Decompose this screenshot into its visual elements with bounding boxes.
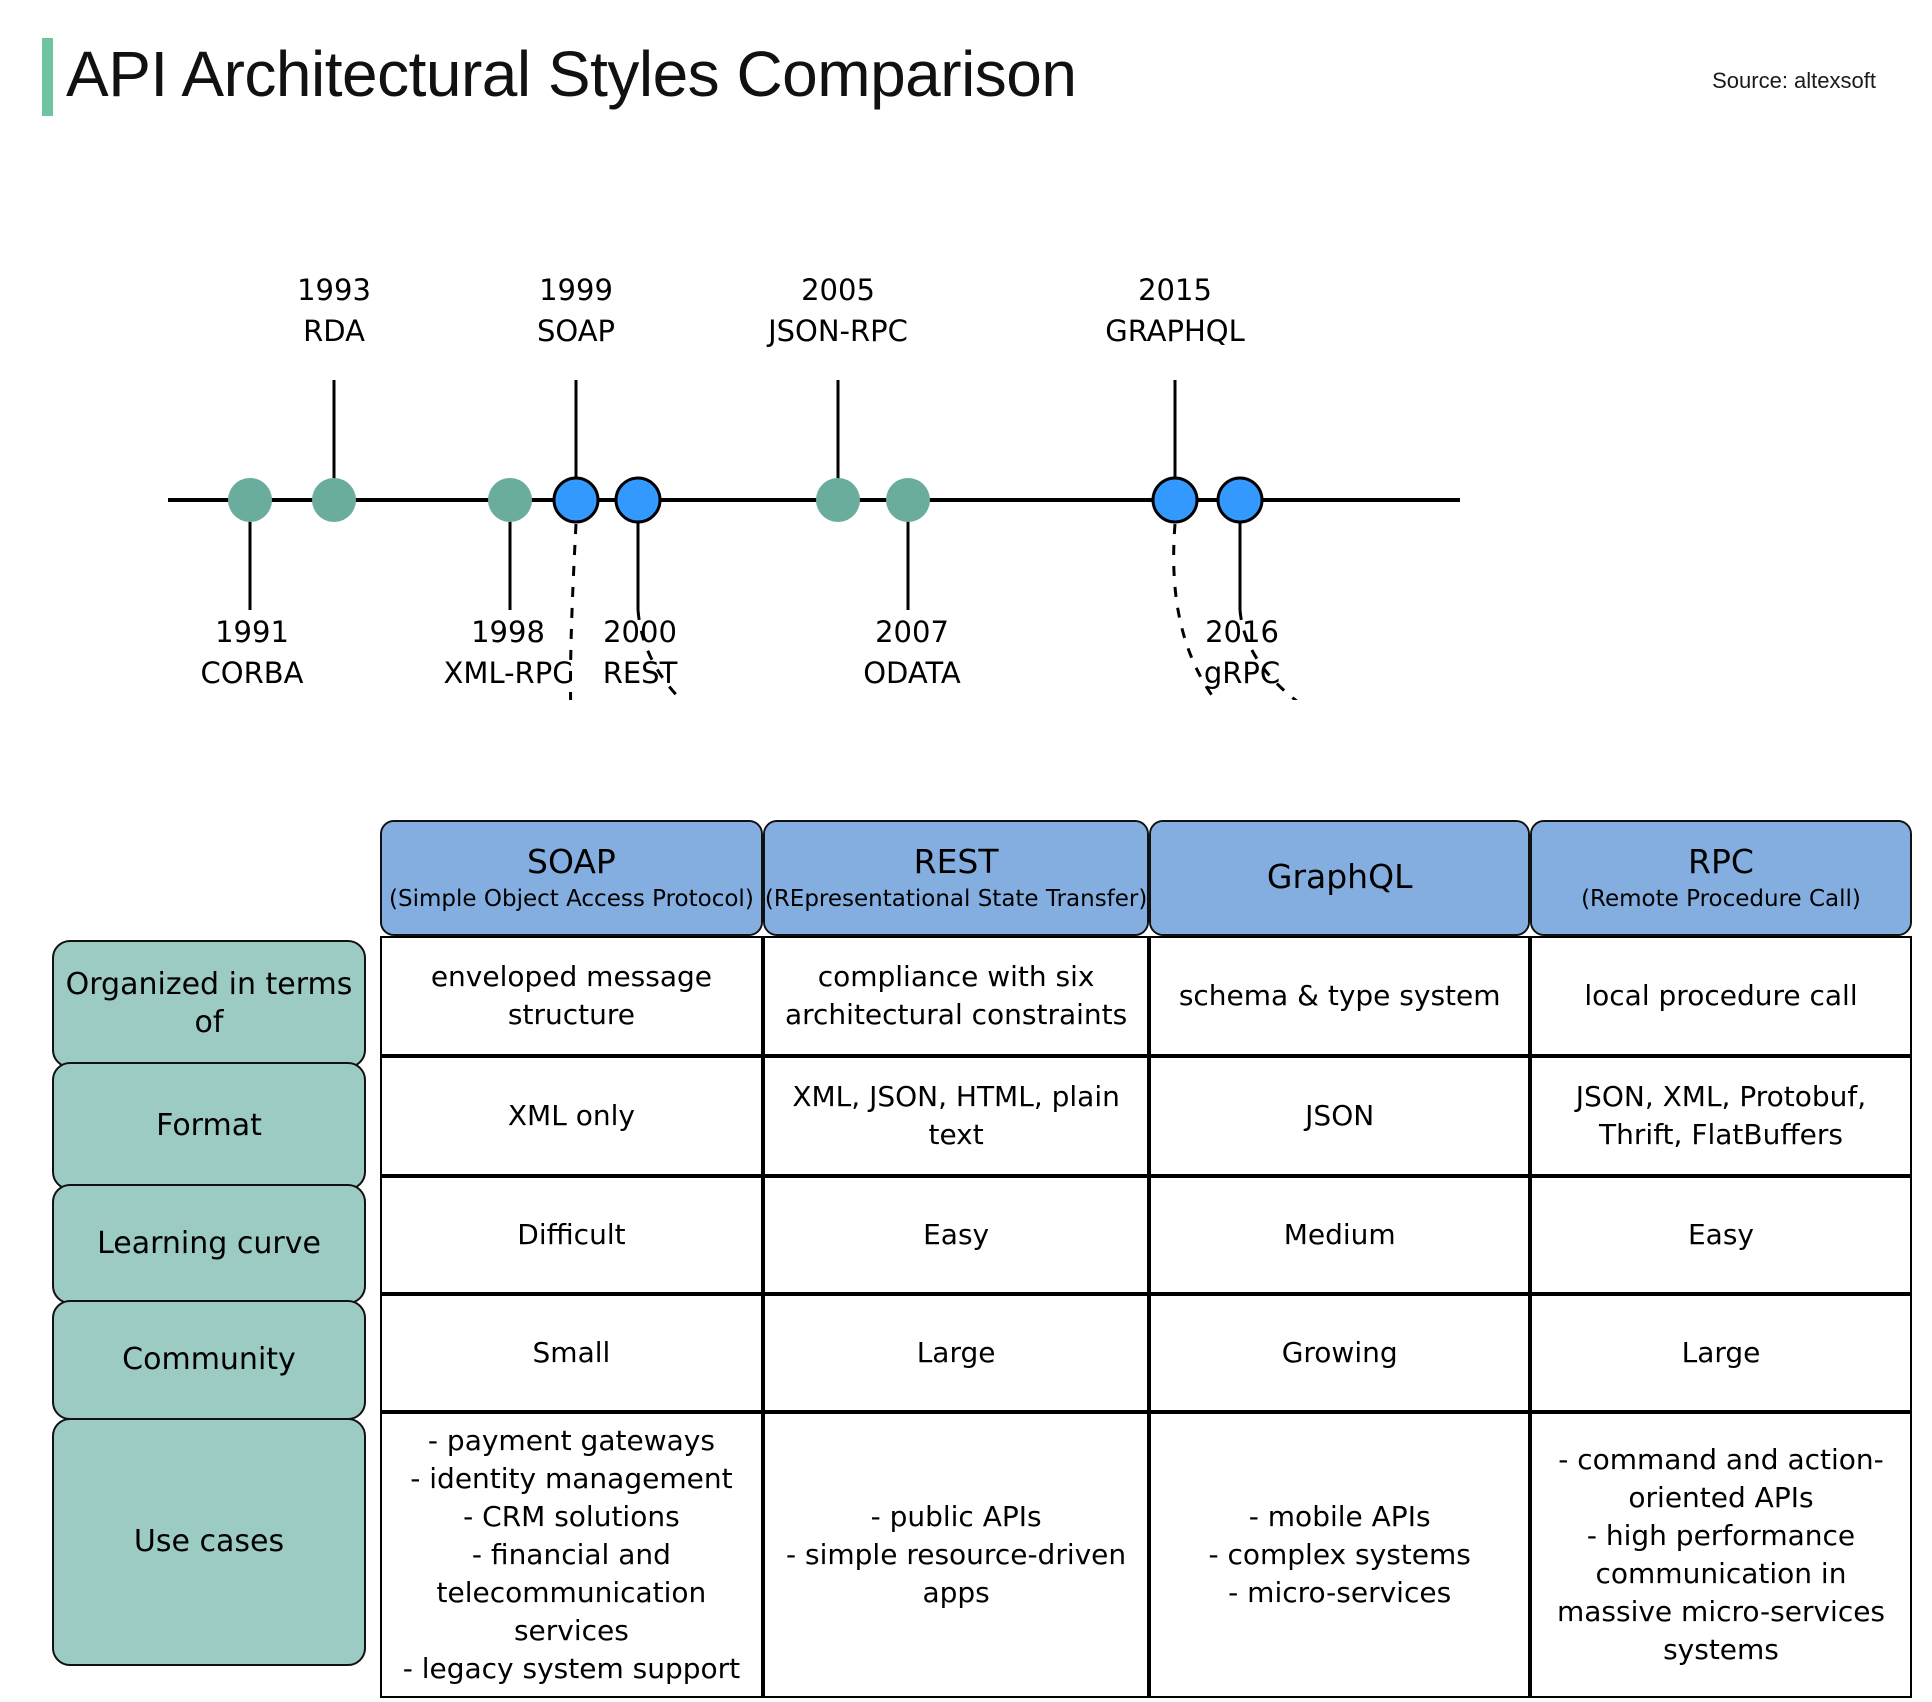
cell-learning-rpc: Easy [1530, 1176, 1912, 1294]
timeline-name: gRPC [1204, 653, 1280, 694]
header-title: GraphQL [1267, 857, 1413, 897]
timeline-name: JSON-RPC [768, 311, 908, 352]
table-row: Difficult Easy Medium Easy [380, 1176, 1912, 1294]
cell-organized-rest: compliance with six architectural constr… [763, 936, 1150, 1056]
table-header-rest[interactable]: REST (REpresentational State Transfer) [763, 820, 1150, 936]
row-label-text: Organized in terms of [54, 966, 364, 1042]
timeline-label-graphql: 2015 GRAPHQL [1105, 270, 1245, 352]
table-row: Small Large Growing Large [380, 1294, 1912, 1412]
cell-community-soap: Small [380, 1294, 763, 1412]
comparison-table: SOAP (Simple Object Access Protocol) RES… [380, 820, 1912, 1698]
cell-usecases-rest: - public APIs - simple resource-driven a… [763, 1412, 1150, 1698]
timeline-label-rest: 2000 REST [603, 612, 678, 694]
use-case-item: - complex systems [1161, 1536, 1518, 1574]
cell-organized-graphql: schema & type system [1149, 936, 1530, 1056]
timeline-year: 2016 [1204, 612, 1280, 653]
row-label-organized-in-terms-of: Organized in terms of [52, 940, 366, 1068]
cell-community-rest: Large [763, 1294, 1150, 1412]
timeline-year: 2000 [603, 612, 678, 653]
timeline-year: 1998 [444, 612, 573, 653]
timeline-dot-rest [616, 478, 660, 522]
header-subtitle: (Remote Procedure Call) [1581, 884, 1861, 914]
cell-format-rpc: JSON, XML, Protobuf, Thrift, FlatBuffers [1530, 1056, 1912, 1176]
cell-community-graphql: Growing [1149, 1294, 1530, 1412]
timeline-name: CORBA [201, 653, 304, 694]
row-label-use-cases: Use cases [52, 1418, 366, 1666]
use-case-item: - legacy system support [392, 1650, 751, 1688]
title-accent-bar [42, 38, 53, 116]
cell-organized-rpc: local procedure call [1530, 936, 1912, 1056]
timeline-dot-grpc [1218, 478, 1262, 522]
header-title: REST [914, 842, 999, 882]
table-header-rpc[interactable]: RPC (Remote Procedure Call) [1530, 820, 1912, 936]
table-header-row: SOAP (Simple Object Access Protocol) RES… [380, 820, 1912, 936]
timeline-dot-odata [886, 478, 930, 522]
timeline-name: ODATA [863, 653, 961, 694]
timeline-label-grpc: 2016 gRPC [1204, 612, 1280, 694]
timeline-name: REST [603, 653, 678, 694]
cell-learning-soap: Difficult [380, 1176, 763, 1294]
header-title: SOAP [527, 842, 616, 882]
timeline-dot-graphql [1153, 478, 1197, 522]
cell-organized-soap: enveloped message structure [380, 936, 763, 1056]
timeline-label-soap: 1999 SOAP [537, 270, 615, 352]
timeline-label-corba: 1991 CORBA [201, 612, 304, 694]
use-case-item: - payment gateways [392, 1422, 751, 1460]
leader-rpc [1240, 610, 1745, 700]
timeline-dot-jsonrpc [816, 478, 860, 522]
timeline-name: XML-RPC [444, 653, 573, 694]
timeline-label-rda: 1993 RDA [297, 270, 371, 352]
timeline-year: 2015 [1105, 270, 1245, 311]
row-label-learning-curve: Learning curve [52, 1184, 366, 1304]
use-case-item: - CRM solutions [392, 1498, 751, 1536]
header-subtitle: (REpresentational State Transfer) [765, 884, 1148, 914]
row-label-community: Community [52, 1300, 366, 1420]
timeline-dot-soap [554, 478, 598, 522]
cell-learning-rest: Easy [763, 1176, 1150, 1294]
table-row: XML only XML, JSON, HTML, plain text JSO… [380, 1056, 1912, 1176]
row-label-text: Learning curve [97, 1225, 321, 1263]
use-case-item: - financial and telecommunication servic… [392, 1536, 751, 1650]
use-case-item: - public APIs [775, 1498, 1138, 1536]
use-case-item: - micro-services [1161, 1574, 1518, 1612]
table-header-soap[interactable]: SOAP (Simple Object Access Protocol) [380, 820, 763, 936]
row-label-text: Use cases [134, 1523, 284, 1561]
use-case-item: - simple resource-driven apps [775, 1536, 1138, 1612]
timeline-name: SOAP [537, 311, 615, 352]
timeline-year: 2007 [863, 612, 961, 653]
cell-usecases-rpc: - command and action-oriented APIs - hig… [1530, 1412, 1912, 1698]
page-title: API Architectural Styles Comparison [66, 34, 1076, 114]
timeline-dot-xmlrpc [488, 478, 532, 522]
timeline: 1993 RDA 1999 SOAP 2005 JSON-RPC 2015 GR… [0, 280, 1932, 700]
cell-learning-graphql: Medium [1149, 1176, 1530, 1294]
cell-format-soap: XML only [380, 1056, 763, 1176]
row-label-text: Community [122, 1341, 296, 1379]
cell-usecases-soap: - payment gateways - identity management… [380, 1412, 763, 1698]
cell-usecases-graphql: - mobile APIs - complex systems - micro-… [1149, 1412, 1530, 1698]
header: API Architectural Styles Comparison Sour… [0, 0, 1932, 130]
row-label-format: Format [52, 1062, 366, 1190]
timeline-year: 1991 [201, 612, 304, 653]
use-case-item: - identity management [392, 1460, 751, 1498]
timeline-year: 1993 [297, 270, 371, 311]
table-header-graphql[interactable]: GraphQL [1149, 820, 1530, 936]
timeline-name: RDA [297, 311, 371, 352]
use-case-item: - command and action-oriented APIs [1542, 1441, 1900, 1517]
comparison-table-area: Organized in terms of Format Learning cu… [0, 0, 1932, 1702]
timeline-year: 2005 [768, 270, 908, 311]
cell-format-graphql: JSON [1149, 1056, 1530, 1176]
header-title: RPC [1688, 842, 1754, 882]
table-row: enveloped message structure compliance w… [380, 936, 1912, 1056]
timeline-label-odata: 2007 ODATA [863, 612, 961, 694]
use-case-item: - high performance communication in mass… [1542, 1517, 1900, 1669]
header-subtitle: (Simple Object Access Protocol) [389, 884, 754, 914]
timeline-name: GRAPHQL [1105, 311, 1245, 352]
table-row-use-cases: - payment gateways - identity management… [380, 1412, 1912, 1698]
source-attribution: Source: altexsoft [1712, 68, 1876, 94]
timeline-label-jsonrpc: 2005 JSON-RPC [768, 270, 908, 352]
timeline-label-xmlrpc: 1998 XML-RPC [444, 612, 573, 694]
cell-format-rest: XML, JSON, HTML, plain text [763, 1056, 1150, 1176]
timeline-dot-corba [228, 478, 272, 522]
row-label-text: Format [156, 1107, 262, 1145]
timeline-dot-rda [312, 478, 356, 522]
timeline-year: 1999 [537, 270, 615, 311]
cell-community-rpc: Large [1530, 1294, 1912, 1412]
use-case-item: - mobile APIs [1161, 1498, 1518, 1536]
